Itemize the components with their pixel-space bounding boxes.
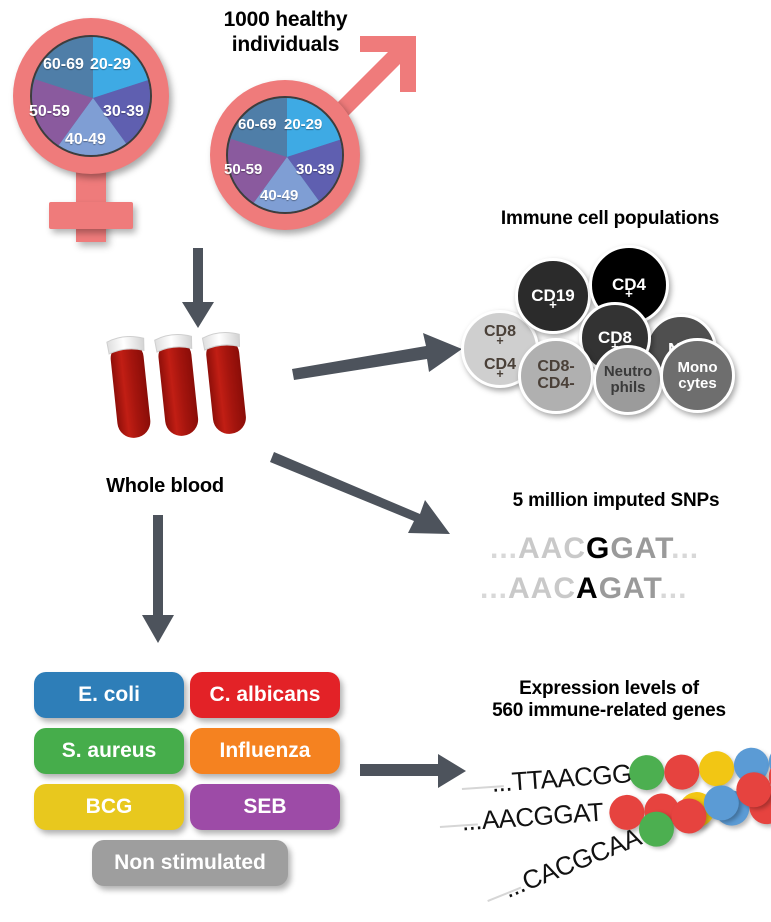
- female-symbol: 20-29 30-39 40-49 50-59 60-69: [8, 14, 188, 244]
- snp-prefix: ...: [480, 572, 508, 605]
- snp-right: GAT: [599, 572, 660, 605]
- female-pie-label-30-39: 30-39: [103, 103, 144, 121]
- strand-sequence: ...TTAACGG: [491, 758, 633, 799]
- snp-prefix: ...: [490, 532, 518, 565]
- immune-cell-label: CD4+: [612, 276, 646, 294]
- arrow-blood-to-stimuli: [140, 515, 180, 645]
- stimuli-panel: E. coli C. albicans S. aureus Influenza …: [30, 672, 350, 892]
- immune-cell-cd8neg-cd4neg: CD8-CD4-: [518, 338, 594, 414]
- expression-title: Expression levels of 560 immune-related …: [450, 678, 768, 723]
- arrow-blood-to-snp: [270, 440, 460, 540]
- snp-suffix: ...: [659, 572, 687, 605]
- immune-cell-label: CD8+CD4+: [484, 324, 516, 374]
- female-pie-label-60-69: 60-69: [43, 56, 84, 74]
- blood-tubes: [100, 330, 280, 450]
- immune-cell-label: CD19+: [531, 287, 574, 305]
- stimulus-c-albicans[interactable]: C. albicans: [190, 672, 340, 718]
- immune-cell-cd19pos: CD19+: [515, 258, 591, 334]
- snp-left: AAC: [508, 572, 576, 605]
- cohort-heading-line1: 1000 healthy: [178, 8, 393, 33]
- strand-bead: [628, 754, 665, 791]
- stimulus-bcg[interactable]: BCG: [34, 784, 184, 830]
- stimulus-label: SEB: [243, 795, 286, 819]
- tubes-svg: [100, 330, 280, 450]
- male-pie-label-40-49: 40-49: [260, 187, 298, 204]
- arrow-shape: [182, 248, 214, 328]
- arrow-shape: [270, 452, 450, 534]
- blood-tube-1: [107, 335, 154, 440]
- female-pie-label-40-49: 40-49: [65, 131, 106, 149]
- figure-canvas: 1000 healthy individuals 20-29 30-39 40-…: [0, 0, 771, 922]
- snp-sequence-row-2: ...AACAGAT...: [480, 572, 687, 606]
- snp-right: GAT: [610, 532, 671, 565]
- blood-tube-3: [202, 331, 249, 436]
- stimulus-label: C. albicans: [210, 683, 321, 707]
- stimulus-label: E. coli: [78, 683, 140, 707]
- immune-cell-label: CD8-CD4-: [537, 359, 574, 393]
- expression-strands: ...TTAACGG ...AACGGAT ...CACGCAA: [450, 740, 771, 915]
- snp-variant-a: A: [576, 572, 599, 605]
- whole-blood-label: Whole blood: [70, 475, 260, 499]
- male-pie-label-30-39: 30-39: [296, 161, 334, 178]
- snp-variant-g: G: [586, 532, 610, 565]
- immune-title: Immune cell populations: [455, 208, 765, 230]
- arrow-shape: [142, 515, 174, 643]
- male-pie-label-60-69: 60-69: [238, 116, 276, 133]
- snp-suffix: ...: [671, 532, 699, 565]
- snp-title: 5 million imputed SNPs: [466, 490, 766, 512]
- arrow-blood-to-immune: [290, 325, 465, 385]
- male-pie-label-20-29: 20-29: [284, 116, 322, 133]
- stimulus-label: Non stimulated: [114, 851, 266, 875]
- male-pie-label-50-59: 50-59: [224, 161, 262, 178]
- male-symbol: 20-29 30-39 40-49 50-59 60-69: [202, 32, 422, 232]
- snp-sequence-row-1: ...AACGGAT...: [490, 532, 699, 566]
- stimulus-non-stimulated[interactable]: Non stimulated: [92, 840, 288, 886]
- stimulus-label: Influenza: [219, 739, 310, 763]
- immune-cell-neutrophils: Neutrophils: [593, 345, 663, 415]
- expression-title-line1: Expression levels of: [450, 678, 768, 700]
- female-pie-label-50-59: 50-59: [29, 103, 70, 121]
- blood-tube-2: [154, 333, 201, 438]
- immune-cell-monocytes: Monocytes: [660, 338, 735, 413]
- female-crossbar: [49, 202, 133, 229]
- strand-bead: [663, 753, 700, 790]
- stimulus-s-aureus[interactable]: S. aureus: [34, 728, 184, 774]
- stimulus-seb[interactable]: SEB: [190, 784, 340, 830]
- stimulus-label: S. aureus: [62, 739, 157, 763]
- stimulus-e-coli[interactable]: E. coli: [34, 672, 184, 718]
- arrow-shape: [292, 333, 462, 380]
- stimulus-influenza[interactable]: Influenza: [190, 728, 340, 774]
- snp-left: AAC: [518, 532, 586, 565]
- stimulus-label: BCG: [86, 795, 133, 819]
- immune-cell-label: Monocytes: [678, 360, 718, 392]
- female-pie-label-20-29: 20-29: [90, 56, 131, 74]
- immune-cell-cluster: CD8+CD4+ CD19+ NK CD4+ CD8+ CD8-CD4- Neu…: [455, 240, 765, 420]
- immune-cell-label: Neutrophils: [604, 364, 652, 396]
- expression-title-line2: 560 immune-related genes: [450, 700, 768, 722]
- arrow-cohort-to-blood: [178, 248, 218, 330]
